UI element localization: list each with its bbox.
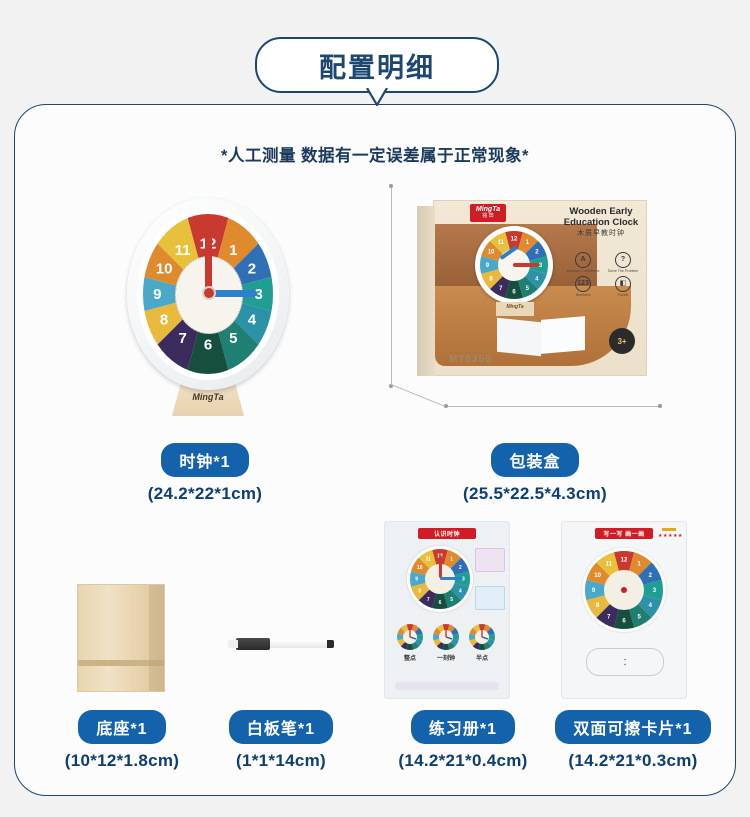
box-age-badge: 3+ (609, 328, 635, 354)
clock-face: 121234567891011241314151617181920212223 (137, 208, 279, 380)
clock-center-pin (202, 286, 216, 300)
guide-dot-bottom-left (444, 404, 448, 408)
mini-clock-0: 整点 (395, 624, 425, 662)
section-title-banner: 配置明细 (255, 37, 499, 93)
pen-barrel (268, 640, 332, 648)
practice-book-callout-top (475, 548, 505, 572)
page-title: 配置明细 (319, 46, 435, 85)
product-photo-erasable-card: 写一写 画一画 ★★★★★ 121234567891011 : (561, 521, 687, 699)
product-photo-whiteboard-pen (228, 636, 334, 652)
label-block-whiteboard-pen: 白板笔*1 (1*1*14cm) (196, 710, 366, 771)
practice-book-minute-hand (440, 577, 462, 580)
label-block-clock: 时钟*1 (24.2*22*1cm) (110, 443, 300, 504)
practice-book-footer (395, 682, 499, 690)
practice-book-hour-hand (439, 556, 442, 578)
item-name-erasable-card: 双面可擦卡片*1 (555, 710, 710, 744)
guide-line-bottom (446, 406, 660, 407)
svg-text:12: 12 (621, 558, 628, 564)
item-name-clock: 时钟*1 (161, 443, 248, 477)
svg-text:4: 4 (248, 311, 257, 328)
svg-text:6: 6 (204, 337, 212, 354)
puzzle-icon: ◧Puzzle (605, 276, 641, 297)
mini-clock-label: 整点 (395, 653, 425, 662)
guide-dot-left-top (389, 184, 393, 188)
svg-text:10: 10 (417, 565, 423, 571)
item-name-whiteboard-pen: 白板笔*1 (229, 710, 333, 744)
item-dimension-erasable-card: (14.2*21*0.3cm) (533, 751, 733, 771)
clock-hour-hand (205, 236, 212, 292)
svg-text:7: 7 (427, 597, 430, 603)
erasable-card-center-dot (621, 587, 627, 593)
box-title-en-line1: Wooden Early (561, 206, 641, 217)
item-dimension-package-box: (25.5*22.5*4.3cm) (430, 484, 640, 504)
item-dimension-clock: (24.2*22*1cm) (110, 484, 300, 504)
box-title-en-line2: Education Clock (557, 217, 645, 228)
box-brand-name: MingTa (476, 206, 500, 213)
numbers-icon: 123Numbers (565, 276, 601, 297)
item-dimension-whiteboard-pen: (1*1*14cm) (196, 751, 366, 771)
erasable-card-star-row: ★★★★★ (658, 528, 680, 539)
item-dimension-wooden-base: (10*12*1.8cm) (32, 751, 212, 771)
box-brand-tag: MingTa 铭 田 (470, 204, 506, 222)
mini-clock-label: 一刻钟 (431, 653, 461, 662)
pen-end-cap (327, 640, 334, 648)
mini-clock-label: 半点 (467, 653, 497, 662)
guide-dot-bottom-right (658, 404, 662, 408)
svg-text:1: 1 (229, 242, 237, 259)
svg-text:4: 4 (459, 588, 462, 594)
box-age-text: 3+ (617, 337, 626, 346)
erasable-card-header: 写一写 画一画 (595, 528, 653, 539)
svg-text:2: 2 (248, 261, 256, 278)
question-mark-icon: ?Solve The Problem (605, 252, 641, 273)
label-block-practice-book: 练习册*1 (14.2*21*0.4cm) (370, 710, 556, 771)
svg-text:12: 12 (511, 236, 518, 242)
box-clock-base-brand: MingTa (496, 304, 534, 310)
svg-text:1: 1 (450, 556, 453, 562)
label-block-wooden-base: 底座*1 (10*12*1.8cm) (32, 710, 212, 771)
box-title-cn: 木质早教时钟 (561, 228, 641, 238)
clock-base-brand: MingTa (172, 392, 244, 402)
svg-text:10: 10 (594, 573, 601, 579)
product-photo-wooden-base (77, 584, 167, 694)
letter-a-icon: AIncrease Confidence (565, 252, 601, 273)
svg-text:5: 5 (450, 597, 453, 603)
svg-text:9: 9 (153, 286, 161, 303)
product-photo-package-box: 121234567891011 MingTa MingTa 铭 田 Wooden… (413, 196, 657, 392)
measurement-note: *人工测量 数据有一定误差属于正常现象* (0, 142, 750, 166)
erasable-card-write-box: : (586, 648, 664, 676)
svg-text:9: 9 (415, 577, 418, 583)
svg-text:7: 7 (178, 330, 186, 347)
box-spine (417, 206, 435, 376)
title-pointer (366, 88, 388, 108)
practice-book-header: 认识时钟 (418, 528, 476, 539)
svg-text:11: 11 (175, 242, 191, 259)
product-photo-practice-book: 认识时钟 121234567891011 整点一刻钟半点 (384, 521, 510, 699)
item-name-wooden-base: 底座*1 (78, 710, 165, 744)
pen-cap-tip (228, 640, 238, 648)
label-block-erasable-card: 双面可擦卡片*1 (14.2*21*0.3cm) (533, 710, 733, 771)
item-name-practice-book: 练习册*1 (411, 710, 515, 744)
box-model-number: MT8350 (449, 354, 492, 365)
svg-text:10: 10 (156, 261, 173, 278)
svg-text:5: 5 (229, 330, 237, 347)
label-block-package-box: 包装盒 (25.5*22.5*4.3cm) (430, 443, 640, 504)
box-booklet-left (497, 318, 541, 357)
svg-text:6: 6 (439, 600, 442, 606)
item-dimension-practice-book: (14.2*21*0.4cm) (370, 751, 556, 771)
item-name-package-box: 包装盒 (491, 443, 578, 477)
svg-text:11: 11 (426, 556, 432, 562)
product-photo-clock: MingTa 121234567891011241314151617181920… (120, 196, 295, 428)
box-booklet-right (541, 316, 585, 354)
svg-text:10: 10 (488, 250, 495, 256)
practice-book-callout-bottom (475, 586, 505, 610)
svg-text:8: 8 (160, 311, 168, 328)
practice-book-mini-clocks: 整点一刻钟半点 (395, 624, 499, 674)
mini-clock-1: 一刻钟 (431, 624, 461, 662)
mini-clock-2: 半点 (467, 624, 497, 662)
wooden-base-right-edge (149, 585, 164, 691)
box-brand-name-cn: 铭 田 (482, 213, 493, 220)
box-clock-hour-hand (513, 263, 539, 267)
svg-text:11: 11 (606, 562, 613, 568)
svg-text:2: 2 (459, 565, 462, 571)
svg-text:8: 8 (418, 588, 421, 594)
guide-line-left-vertical (391, 186, 392, 386)
pen-cap (236, 638, 270, 650)
box-feature-icons: AIncrease Confidence?Solve The Problem12… (565, 252, 641, 296)
svg-text:3: 3 (462, 577, 465, 583)
svg-text:11: 11 (498, 240, 505, 246)
